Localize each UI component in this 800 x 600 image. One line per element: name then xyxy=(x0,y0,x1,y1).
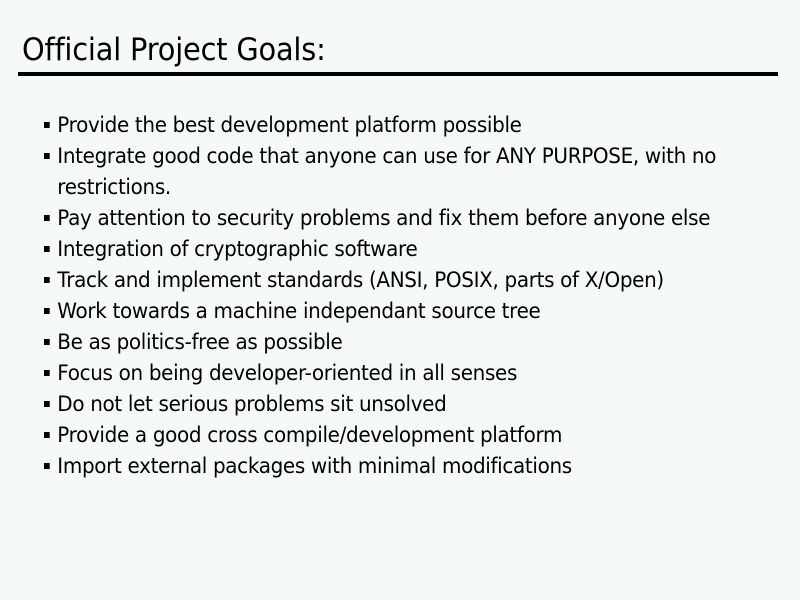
square-bullet-icon xyxy=(44,308,50,314)
list-item: Work towards a machine independant sourc… xyxy=(44,296,738,327)
list-item: Integration of cryptographic software xyxy=(44,234,738,265)
list-item-label: Pay attention to security problems and f… xyxy=(57,203,737,234)
list-item: Track and implement standards (ANSI, POS… xyxy=(44,265,738,296)
list-item: Do not let serious problems sit unsolved xyxy=(44,389,738,420)
goals-bullet-list: Provide the best development platform po… xyxy=(44,110,774,482)
presentation-slide: Official Project Goals: Provide the best… xyxy=(0,0,800,600)
list-item: Be as politics-free as possible xyxy=(44,327,738,358)
list-item-label: Track and implement standards (ANSI, POS… xyxy=(57,265,737,296)
square-bullet-icon xyxy=(44,463,50,469)
list-item: Provide a good cross compile/development… xyxy=(44,420,738,451)
square-bullet-icon xyxy=(44,370,50,376)
square-bullet-icon xyxy=(44,277,50,283)
square-bullet-icon xyxy=(44,432,50,438)
list-item-label: Work towards a machine independant sourc… xyxy=(57,296,737,327)
list-item-label: Import external packages with minimal mo… xyxy=(57,451,737,482)
square-bullet-icon xyxy=(44,401,50,407)
list-item-label: Do not let serious problems sit unsolved xyxy=(57,389,737,420)
list-item: Integrate good code that anyone can use … xyxy=(44,141,738,203)
list-item-label: Focus on being developer-oriented in all… xyxy=(57,358,737,389)
square-bullet-icon xyxy=(44,122,50,128)
square-bullet-icon xyxy=(44,246,50,252)
list-item: Import external packages with minimal mo… xyxy=(44,451,738,482)
list-item: Focus on being developer-oriented in all… xyxy=(44,358,738,389)
list-item-label: Provide the best development platform po… xyxy=(57,110,737,141)
list-item-label: Integration of cryptographic software xyxy=(57,234,737,265)
list-item: Pay attention to security problems and f… xyxy=(44,203,738,234)
list-item-label: Provide a good cross compile/development… xyxy=(57,420,737,451)
list-item-label: Be as politics-free as possible xyxy=(57,327,737,358)
slide-title: Official Project Goals: xyxy=(22,32,326,68)
square-bullet-icon xyxy=(44,215,50,221)
square-bullet-icon xyxy=(44,339,50,345)
square-bullet-icon xyxy=(44,153,50,159)
list-item-label: Integrate good code that anyone can use … xyxy=(57,141,722,203)
list-item: Provide the best development platform po… xyxy=(44,110,738,141)
title-underline-rule xyxy=(18,72,778,76)
